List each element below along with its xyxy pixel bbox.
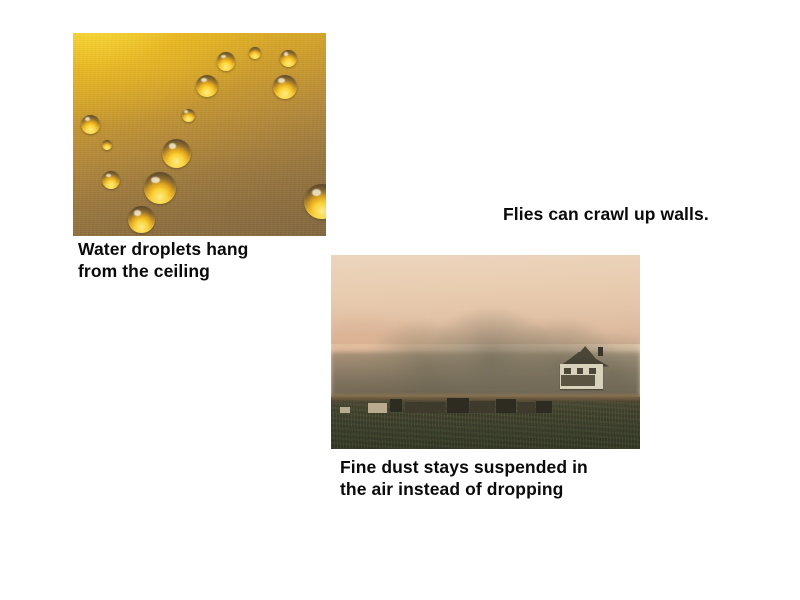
farm-building — [390, 399, 402, 413]
dust-storm-image — [331, 255, 640, 449]
water-drop — [217, 52, 235, 70]
farm-building — [447, 398, 469, 414]
water-drop — [144, 172, 176, 204]
slide-canvas: Water droplets hang from the ceiling Fli… — [0, 0, 800, 600]
water-drop — [196, 75, 218, 97]
water-drop — [273, 75, 297, 99]
water-drop — [128, 206, 155, 233]
farmhouse-window — [578, 352, 583, 356]
farm-building — [496, 399, 516, 414]
water-droplets-image — [73, 33, 326, 236]
farmhouse-window — [589, 368, 596, 374]
farmhouse-porch — [561, 375, 595, 386]
water-drop — [182, 109, 195, 122]
farmhouse-window — [577, 368, 584, 374]
farm-building — [518, 402, 535, 413]
water-drop — [102, 140, 112, 150]
farm-building — [470, 401, 495, 414]
farm-building — [536, 401, 551, 414]
caption-fine-dust-suspended: Fine dust stays suspended in the air ins… — [340, 456, 588, 500]
farm-building — [340, 407, 349, 413]
farmhouse-chimney-icon — [598, 347, 603, 356]
caption-flies-crawl-up-walls: Flies can crawl up walls. — [503, 203, 709, 225]
caption-water-droplets: Water droplets hang from the ceiling — [78, 238, 248, 282]
water-drop — [249, 47, 261, 59]
farmhouse-window — [564, 368, 571, 374]
farm-building — [368, 403, 387, 413]
farm-building — [405, 402, 445, 413]
